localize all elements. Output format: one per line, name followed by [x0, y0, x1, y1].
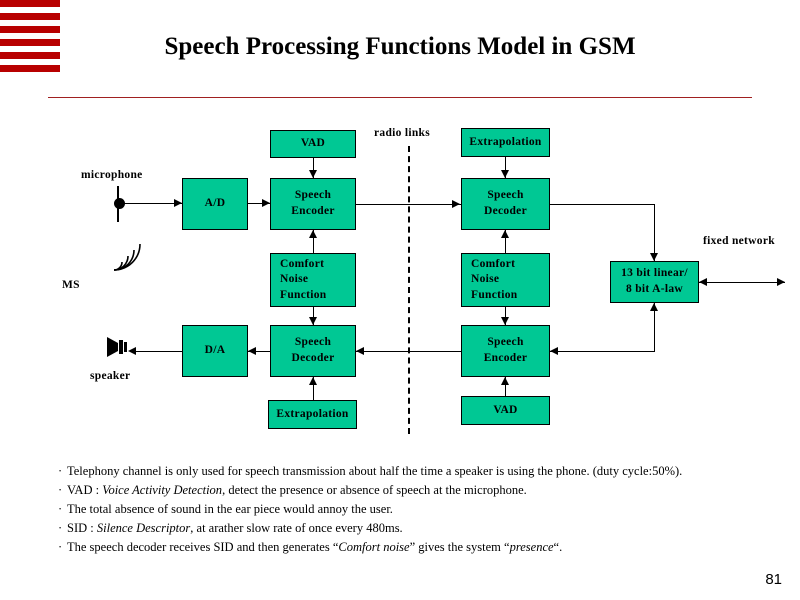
box-comfort-noise-right[interactable]: Comfort Noise Function — [461, 253, 550, 307]
bullet-text-5: The speech decoder receives SID and then… — [67, 540, 562, 554]
list-item: ·Telephony channel is only used for spee… — [58, 462, 788, 481]
radio-link-boundary — [408, 146, 410, 434]
box-label-line1: Comfort — [280, 257, 324, 273]
title-divider — [48, 97, 752, 98]
stripe-3 — [0, 26, 60, 33]
box-label-line2: Decoder — [484, 204, 527, 220]
arrowhead-cnf-right-to-encoder-bottom — [501, 317, 509, 325]
page-number: 81 — [765, 571, 782, 588]
bullet-marker: · — [58, 538, 67, 557]
notes-list: ·Telephony channel is only used for spee… — [58, 462, 788, 557]
box-label: Extrapolation — [276, 407, 348, 423]
connector-fixed-network — [699, 282, 785, 283]
bullet-marker: · — [58, 500, 67, 519]
arrowhead-ad-to-encoder — [262, 199, 270, 207]
stripe-1 — [0, 0, 60, 7]
antenna-waves-icon — [110, 240, 148, 274]
arrowhead-cnf-right-to-decoder — [501, 230, 509, 238]
connector-mic-to-ad — [120, 203, 182, 204]
arrowhead-fixed-network-left — [699, 278, 707, 286]
bullet-marker: · — [58, 519, 67, 538]
box-label-line1: Speech — [487, 188, 523, 204]
arrowhead-cnf-to-encoder — [309, 230, 317, 238]
box-ad[interactable]: A/D — [182, 178, 248, 230]
connector-encoder-to-decoder-downlink — [356, 351, 461, 352]
box-label-line1: Comfort — [471, 257, 515, 273]
arrowhead-cnf-left-to-decoder-bottom — [309, 317, 317, 325]
arrowhead-da-to-speaker — [128, 347, 136, 355]
box-vad-top[interactable]: VAD — [270, 130, 356, 158]
box-label-line1: 13 bit linear/ — [621, 266, 688, 282]
box-bit-converter[interactable]: 13 bit linear/ 8 bit A-law — [610, 261, 699, 303]
arrowhead-fixed-network-right — [777, 278, 785, 286]
list-item: ·The total absence of sound in the ear p… — [58, 500, 788, 519]
box-label-line1: Speech — [295, 335, 331, 351]
list-item: ·VAD : Voice Activity Detection, detect … — [58, 481, 788, 500]
connector-converter-to-encoder-h — [550, 351, 655, 352]
box-label-line2: Encoder — [291, 204, 335, 220]
arrowhead-vad-bottom-to-encoder — [501, 377, 509, 385]
label-fixed-network: fixed network — [703, 235, 775, 247]
bullet-text-3: The total absence of sound in the ear pi… — [67, 502, 393, 516]
arrowhead-encoder-to-decoder-uplink — [452, 200, 460, 208]
label-ms: MS — [62, 279, 80, 291]
box-label-line2: Decoder — [292, 351, 335, 367]
arrowhead-decoder-to-da — [248, 347, 256, 355]
box-comfort-noise-left[interactable]: Comfort Noise Function — [270, 253, 356, 307]
box-label-line1: Speech — [487, 335, 523, 351]
arrowhead-extrapolation-to-decoder — [501, 170, 509, 178]
box-label: VAD — [301, 136, 325, 152]
connector-decoder-to-converter-h — [550, 204, 655, 205]
arrowhead-encoder-to-decoder-downlink — [356, 347, 364, 355]
arrowhead-vad-to-encoder — [309, 170, 317, 178]
box-label-line3: Function — [471, 288, 518, 304]
box-label-line2: Noise — [280, 272, 308, 288]
arrowhead-mic-to-ad — [174, 199, 182, 207]
slide-canvas: Speech Processing Functions Model in GSM… — [0, 0, 800, 600]
list-item: ·The speech decoder receives SID and the… — [58, 538, 788, 557]
box-speech-decoder-top[interactable]: Speech Decoder — [461, 178, 550, 230]
box-label: VAD — [493, 403, 517, 419]
box-label-line2: 8 bit A-law — [626, 282, 683, 298]
bullet-text-2: VAD : Voice Activity Detection, detect t… — [67, 483, 527, 497]
connector-da-to-speaker — [131, 351, 182, 352]
stripe-2 — [0, 13, 60, 20]
box-speech-decoder-bottom[interactable]: Speech Decoder — [270, 325, 356, 377]
arrowhead-extrapolation-bottom-to-decoder — [309, 377, 317, 385]
bullet-text-4: SID : Silence Descriptor, at arather slo… — [67, 521, 403, 535]
bullet-marker: · — [58, 481, 67, 500]
box-speech-encoder-top[interactable]: Speech Encoder — [270, 178, 356, 230]
box-extrapolation-top[interactable]: Extrapolation — [461, 128, 550, 157]
bullet-text-1: Telephony channel is only used for speec… — [67, 464, 682, 478]
box-label-line2: Encoder — [484, 351, 528, 367]
list-item: ·SID : Silence Descriptor, at arather sl… — [58, 519, 788, 538]
box-label-line2: Noise — [471, 272, 499, 288]
box-label: D/A — [205, 343, 226, 359]
label-microphone: microphone — [81, 169, 143, 181]
bullet-marker: · — [58, 462, 67, 481]
box-label: A/D — [205, 196, 226, 212]
box-da[interactable]: D/A — [182, 325, 248, 377]
label-speaker: speaker — [90, 370, 130, 382]
label-radio-links: radio links — [374, 127, 430, 139]
box-speech-encoder-bottom[interactable]: Speech Encoder — [461, 325, 550, 377]
box-extrapolation-bottom[interactable]: Extrapolation — [268, 400, 357, 429]
arrowhead-decoder-to-converter — [650, 253, 658, 261]
box-label: Extrapolation — [469, 135, 541, 151]
connector-encoder-to-decoder-uplink — [356, 204, 461, 205]
page-title: Speech Processing Functions Model in GSM — [0, 33, 800, 61]
arrowhead-converter-up — [650, 303, 658, 311]
arrowhead-converter-to-encoder — [550, 347, 558, 355]
stripe-6 — [0, 65, 60, 72]
box-vad-bottom[interactable]: VAD — [461, 396, 550, 425]
box-label-line3: Function — [280, 288, 327, 304]
box-label-line1: Speech — [295, 188, 331, 204]
